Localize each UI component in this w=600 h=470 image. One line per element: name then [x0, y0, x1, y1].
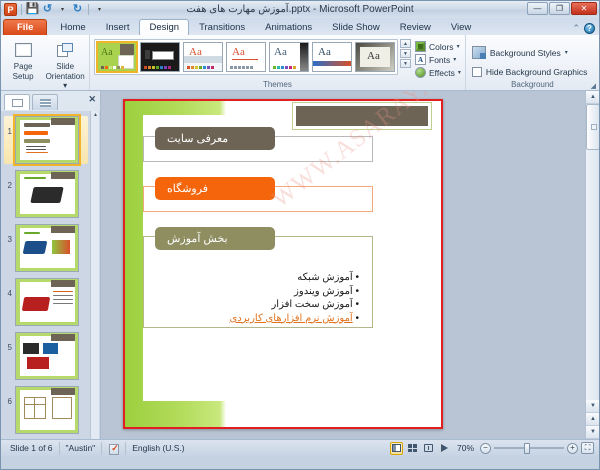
tab-view[interactable]: View [441, 19, 481, 35]
minimize-button[interactable]: — [527, 2, 548, 15]
undo-dropdown-icon[interactable]: ▾ [56, 3, 69, 16]
bullet-item-2: • آموزش ویندوز [149, 285, 359, 299]
bullet-link-4[interactable]: آموزش نرم افزارهای کاربردی [229, 313, 352, 324]
outline-tab-icon [40, 99, 51, 107]
slide-sorter-view-button[interactable] [406, 442, 419, 455]
slide-thumbnail-image-6 [15, 386, 79, 434]
fonts-icon: A [415, 54, 426, 65]
slide-thumbnail-image-1 [15, 116, 79, 164]
title-bar: P 💾 ↺ ▾ ↻ ▾ آموزش مهارت های هفت.pptx - M… [1, 1, 599, 18]
slide-thumbnail-image-3 [15, 224, 79, 272]
slide-counter[interactable]: Slide 1 of 6 [4, 442, 60, 455]
scroll-up-icon[interactable]: ▲ [586, 91, 599, 104]
page-setup-label-line2: Setup [13, 72, 34, 81]
slide-thumbnail-2[interactable]: 2 [4, 170, 88, 218]
bullet-text-1: آموزش شبکه [297, 272, 352, 283]
slide-editing-area[interactable]: معرفی سایت فروشگاه بخش آموزش [101, 91, 599, 439]
main-area: ✕ 1 2 [1, 91, 599, 439]
slide-number-6: 6 [4, 386, 12, 406]
powerpoint-window: P 💾 ↺ ▾ ↻ ▾ آموزش مهارت های هفت.pptx - M… [0, 0, 600, 470]
theme-effects-button[interactable]: Effects ▾ [415, 67, 461, 78]
maximize-button[interactable]: ❐ [549, 2, 570, 15]
theme-effects-label: Effects [429, 68, 455, 78]
theme-thumb-adjacency-aa: Aa [189, 46, 202, 58]
slide-thumbnail-1[interactable]: 1 [4, 116, 88, 164]
ribbon-group-background: Background Styles ▾ Hide Background Grap… [465, 35, 599, 90]
bullet-marker-2: • [355, 286, 359, 297]
bullet-list[interactable]: • آموزش شبکه • آموزش ویندوز • آموزش سخت … [149, 271, 359, 325]
tab-file[interactable]: File [3, 19, 47, 35]
fit-to-window-button[interactable]: ⛶ [581, 442, 594, 454]
slide-number-4: 4 [4, 278, 12, 298]
help-icon[interactable]: ? [584, 23, 595, 34]
quick-access-toolbar: P 💾 ↺ ▾ ↻ ▾ [1, 3, 106, 16]
theme-thumb-apothecary-aa: Aa [318, 46, 331, 58]
qat-divider [21, 4, 22, 15]
theme-thumb-austin-aa: Aa [101, 47, 113, 58]
customize-qat-icon[interactable]: ▾ [93, 3, 106, 16]
content-box-1-label: معرفی سایت [167, 132, 228, 145]
normal-view-button[interactable] [390, 442, 403, 455]
slides-pane-header: ✕ [1, 91, 100, 111]
hide-background-graphics-label: Hide Background Graphics [486, 67, 588, 77]
next-slide-icon[interactable]: ▼ [586, 426, 599, 439]
previous-slide-icon[interactable]: ▲ [586, 413, 599, 426]
bullet-item-1: • آموزش شبکه [149, 271, 359, 285]
themes-group-label: Themes [94, 80, 461, 90]
theme-thumb-apex[interactable]: Aa [269, 42, 309, 72]
bullet-item-3: • آموزش سخت افزار [149, 298, 359, 312]
theme-thumb-angles[interactable]: Aa [226, 42, 266, 72]
slide-number-3: 3 [4, 224, 12, 244]
bullet-marker-3: • [355, 299, 359, 310]
slide-sorter-view-icon [408, 444, 417, 452]
background-styles-icon [472, 46, 486, 59]
slide-thumbnail-image-4 [15, 278, 79, 326]
spellcheck-icon [108, 443, 119, 454]
tab-home[interactable]: Home [50, 19, 95, 35]
theme-colors-caret-icon[interactable]: ▾ [457, 43, 460, 50]
zoom-out-button[interactable]: − [480, 443, 491, 454]
theme-thumb-aspect[interactable]: Aa [355, 42, 395, 72]
background-styles-caret-icon[interactable]: ▾ [565, 49, 568, 56]
window-controls: — ❐ ✕ [527, 2, 597, 15]
slide-number-1: 1 [4, 116, 12, 136]
theme-fonts-button[interactable]: A Fonts ▾ [415, 54, 461, 65]
slide-show-view-button[interactable] [438, 442, 451, 455]
page-setup-button[interactable]: Page Setup [5, 37, 41, 81]
page-setup-label-line1: Page [14, 62, 33, 71]
slides-pane-scrollbar[interactable]: ▲ [90, 111, 99, 439]
content-box-moarefi-site[interactable]: معرفی سایت [143, 127, 373, 165]
ribbon: Page Setup Slide Orientation ▾ Page Setu… [1, 35, 599, 91]
themes-gallery[interactable]: Aa [94, 39, 398, 75]
undo-icon[interactable]: ↺ [41, 3, 54, 16]
theme-thumb-apothecary[interactable]: Aa [312, 42, 352, 72]
save-icon[interactable]: 💾 [26, 3, 39, 16]
content-box-3-label: بخش آموزش [167, 232, 228, 245]
slide-number-5: 5 [4, 332, 12, 352]
bullet-item-4[interactable]: • آموزش نرم افزارهای کاربردی [149, 312, 359, 326]
redo-icon[interactable]: ↻ [71, 3, 84, 16]
reading-view-icon [424, 444, 433, 452]
page-setup-icon [12, 39, 34, 61]
theme-fonts-label: Fonts [429, 55, 450, 65]
scroll-down-icon[interactable]: ▼ [586, 400, 599, 413]
zoom-slider[interactable] [494, 443, 564, 454]
zoom-level-label[interactable]: 70% [454, 443, 477, 453]
slide-thumbnail-5[interactable]: 5 [4, 332, 88, 380]
tab-animations[interactable]: Animations [255, 19, 322, 35]
zoom-slider-knob[interactable] [524, 443, 530, 454]
slide-orientation-icon [54, 39, 76, 61]
slide-number-2: 2 [4, 170, 12, 190]
theme-thumb-apex-aa: Aa [274, 46, 287, 58]
theme-thumb-angles-aa: Aa [232, 46, 245, 58]
ribbon-help-buttons: ⌃ ? [572, 23, 595, 34]
ribbon-group-page-setup: Page Setup Slide Orientation ▾ Page Setu… [1, 35, 89, 90]
colors-icon [415, 41, 426, 52]
content-box-2-tag[interactable]: فروشگاه [155, 177, 275, 200]
background-styles-button[interactable]: Background Styles ▾ [470, 43, 570, 62]
slides-pane-scroll-up-icon[interactable]: ▲ [91, 111, 100, 120]
slide-orientation-button[interactable]: Slide Orientation ▾ [45, 37, 85, 90]
close-pane-icon[interactable]: ✕ [88, 94, 96, 105]
spellcheck-status[interactable] [102, 442, 126, 455]
tab-transitions[interactable]: Transitions [189, 19, 255, 35]
slide-show-view-icon [441, 444, 448, 452]
slide-thumbnail-4[interactable]: 4 [4, 278, 88, 326]
theme-fonts-caret-icon[interactable]: ▾ [453, 56, 456, 63]
slides-tab-icon [12, 99, 23, 107]
content-box-forushgah[interactable]: فروشگاه [143, 177, 373, 215]
qat-divider-2 [88, 4, 89, 15]
theme-options: Colors ▾ A Fonts ▾ Effects ▾ [413, 39, 461, 78]
tab-design[interactable]: Design [139, 19, 189, 35]
language-status[interactable]: English (U.S.) [126, 442, 190, 455]
theme-thumb-austin[interactable]: Aa [97, 42, 137, 72]
ribbon-group-themes: Aa [89, 35, 465, 90]
content-box-2-label: فروشگاه [167, 182, 208, 195]
content-box-bakhsh-amoozesh[interactable]: بخش آموزش [143, 227, 373, 265]
tab-review[interactable]: Review [390, 19, 441, 35]
zoom-in-button[interactable]: + [567, 443, 578, 454]
themes-more-icon[interactable]: ▼ [400, 59, 411, 68]
background-styles-label: Background Styles [490, 48, 561, 58]
slide-thumbnail-image-5 [15, 332, 79, 380]
slide-orientation-label-line2: Orientation ▾ [45, 72, 85, 90]
checkbox-icon[interactable] [472, 67, 482, 77]
theme-colors-label: Colors [429, 42, 454, 52]
slide-thumbnail-3[interactable]: 3 [4, 224, 88, 272]
themes-scroll-up-icon[interactable]: ▲ [400, 39, 411, 48]
content-box-3-tag[interactable]: بخش آموزش [155, 227, 275, 250]
slide-thumbnail-image-2 [15, 170, 79, 218]
themes-scroll-down-icon[interactable]: ▼ [400, 49, 411, 58]
slides-pane: ✕ 1 2 [1, 91, 101, 439]
status-bar-right: 70% − + ⛶ [390, 442, 596, 455]
effects-icon [415, 67, 426, 78]
normal-view-icon [392, 444, 401, 452]
background-group-label: Background [470, 80, 595, 90]
reading-view-button[interactable] [422, 442, 435, 455]
background-dialog-launcher-icon[interactable]: ◢ [591, 82, 596, 90]
hide-background-graphics-checkbox[interactable]: Hide Background Graphics [470, 64, 590, 80]
ribbon-tab-strip: File Home Insert Design Transitions Anim… [1, 18, 599, 35]
theme-effects-caret-icon[interactable]: ▾ [458, 69, 461, 76]
tab-insert[interactable]: Insert [96, 19, 140, 35]
theme-colors-button[interactable]: Colors ▾ [415, 41, 461, 52]
bullet-marker-1: • [355, 272, 359, 283]
tab-slide-show[interactable]: Slide Show [322, 19, 390, 35]
status-bar: Slide 1 of 6 "Austin" English (U.S.) 70%… [1, 439, 599, 456]
powerpoint-icon[interactable]: P [4, 3, 17, 16]
outline-tab[interactable] [32, 94, 58, 110]
current-slide[interactable]: معرفی سایت فروشگاه بخش آموزش [123, 99, 443, 429]
theme-name[interactable]: "Austin" [60, 442, 103, 455]
close-button[interactable]: ✕ [571, 2, 597, 15]
slide-orientation-label-line1: Slide [56, 62, 74, 71]
stage-vertical-scrollbar[interactable]: ▲ ▼ ▲ ▼ [585, 91, 599, 439]
scroll-bottom-buttons: ▼ ▲ ▼ [586, 400, 599, 439]
slides-tab[interactable] [4, 94, 30, 110]
themes-gallery-scroll: ▲ ▼ ▼ [400, 39, 411, 68]
bullet-marker-4: • [355, 313, 359, 324]
slides-thumbnail-list[interactable]: 1 2 [1, 111, 100, 439]
bullet-text-2: آموزش ویندوز [294, 286, 353, 297]
theme-thumb-black[interactable] [140, 42, 180, 72]
content-box-1-tag[interactable]: معرفی سایت [155, 127, 275, 150]
theme-thumb-adjacency[interactable]: Aa [183, 42, 223, 72]
bullet-text-3: آموزش سخت افزار [271, 299, 352, 310]
slide-thumbnail-6[interactable]: 6 [4, 386, 88, 434]
scroll-thumb[interactable] [586, 104, 599, 150]
theme-thumb-aspect-aa: Aa [367, 50, 380, 62]
slide-header-block[interactable] [293, 103, 431, 129]
minimize-ribbon-icon[interactable]: ⌃ [572, 23, 580, 34]
